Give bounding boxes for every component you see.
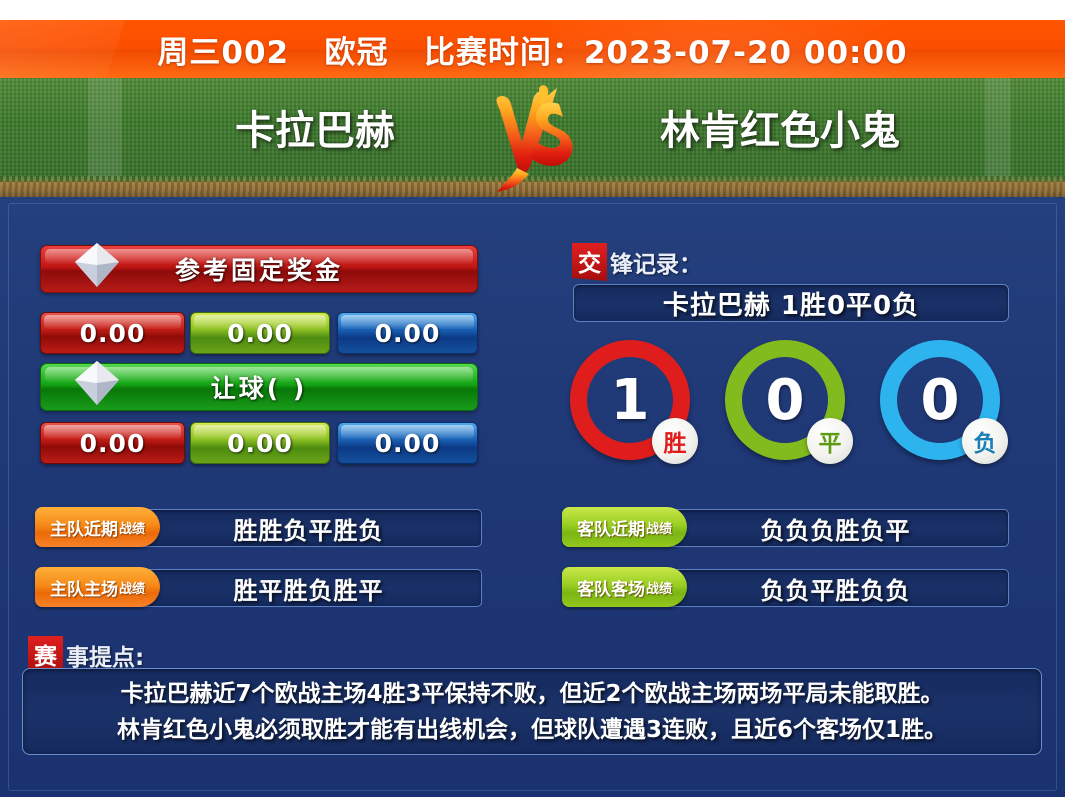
match-header-bar: 周三002 欧冠 比赛时间：2023-07-20 00:00 <box>0 20 1065 78</box>
notes-line: 卡拉巴赫近7个欧战主场4胜3平保持不败，但近2个欧战主场两场平局未能取胜。 <box>120 676 943 712</box>
home-recent-form-tab[interactable]: 主队近期 战绩 <box>35 507 160 547</box>
diamond-gem-icon <box>69 355 125 411</box>
home-recent-form-row: 胜胜负平胜负 主队近期 战绩 <box>35 507 480 547</box>
ring-label-badge: 平 <box>807 418 853 464</box>
away-recent-form-tab[interactable]: 客队近期 战绩 <box>562 507 687 547</box>
page-title: 周三002 欧冠 比赛时间：2023-07-20 00:00 <box>157 27 907 72</box>
home-home-form-tab[interactable]: 主队主场 战绩 <box>35 567 160 607</box>
tab-main-label: 主队主场 <box>50 575 118 600</box>
h2h-badge: 交 <box>572 243 607 281</box>
tab-sub-label: 战绩 <box>119 578 145 597</box>
head-to-head-title: 交 锋记录： <box>572 243 702 281</box>
tab-main-label: 主队近期 <box>50 515 118 540</box>
odd-value: 0.00 <box>80 429 146 458</box>
fixed-bonus-draw-odd[interactable]: 0.00 <box>190 312 330 354</box>
odd-value: 0.00 <box>227 429 293 458</box>
h2h-summary-box: 卡拉巴赫 1胜0平0负 <box>573 284 1009 322</box>
away-away-form-box: 负负平胜负负 <box>662 569 1009 607</box>
pitch-stripe <box>88 78 122 185</box>
ring-label-badge: 胜 <box>652 418 698 464</box>
handicap-home-odd[interactable]: 0.00 <box>40 422 185 464</box>
odd-value: 0.00 <box>375 429 441 458</box>
handicap-draw-odd[interactable]: 0.00 <box>190 422 330 464</box>
away-away-form-tab[interactable]: 客队客场 战绩 <box>562 567 687 607</box>
handicap-away-odd[interactable]: 0.00 <box>337 422 478 464</box>
odd-value: 0.00 <box>227 319 293 348</box>
vs-flame-icon <box>487 84 582 196</box>
tab-sub-label: 战绩 <box>646 578 672 597</box>
diamond-gem-icon <box>69 237 125 293</box>
top-white-strip <box>0 0 1065 20</box>
h2h-draw-ring: 0 平 <box>725 340 845 460</box>
fixed-bonus-header: 参考固定奖金 <box>40 245 478 293</box>
tab-sub-label: 战绩 <box>646 518 672 537</box>
home-home-form-value: 胜平胜负胜平 <box>234 571 384 606</box>
away-recent-form-box: 负负负胜负平 <box>662 509 1009 547</box>
away-away-form-row: 负负平胜负负 客队客场 战绩 <box>562 567 1007 607</box>
fixed-bonus-home-odd[interactable]: 0.00 <box>40 312 185 354</box>
h2h-lose-ring: 0 负 <box>880 340 1000 460</box>
home-recent-form-box: 胜胜负平胜负 <box>135 509 482 547</box>
home-home-form-box: 胜平胜负胜平 <box>135 569 482 607</box>
home-team-name: 卡拉巴赫 <box>165 98 465 156</box>
h2h-summary: 卡拉巴赫 1胜0平0负 <box>663 285 919 322</box>
odd-value: 0.00 <box>375 319 441 348</box>
match-preview-card: 周三002 欧冠 比赛时间：2023-07-20 00:00 卡拉巴赫 林肯红色… <box>0 0 1065 797</box>
tab-sub-label: 战绩 <box>119 518 145 537</box>
h2h-title-rest: 锋记录： <box>610 245 702 279</box>
ring-label-badge: 负 <box>962 418 1008 464</box>
away-recent-form-row: 负负负胜负平 客队近期 战绩 <box>562 507 1007 547</box>
notes-title-rest: 事提点: <box>66 638 144 672</box>
home-recent-form-value: 胜胜负平胜负 <box>234 511 384 546</box>
notes-line: 林肯红色小鬼必须取胜才能有出线机会，但球队遭遇3连败，且近6个客场仅1胜。 <box>117 712 947 748</box>
away-away-form-value: 负负平胜负负 <box>761 571 911 606</box>
fixed-bonus-away-odd[interactable]: 0.00 <box>337 312 478 354</box>
odd-value: 0.00 <box>80 319 146 348</box>
away-recent-form-value: 负负负胜负平 <box>761 511 911 546</box>
notes-box: 卡拉巴赫近7个欧战主场4胜3平保持不败，但近2个欧战主场两场平局未能取胜。 林肯… <box>22 668 1042 755</box>
home-home-form-row: 胜平胜负胜平 主队主场 战绩 <box>35 567 480 607</box>
tab-main-label: 客队近期 <box>577 515 645 540</box>
pitch-stripe <box>985 78 1011 185</box>
handicap-header: 让球( ) <box>40 363 478 411</box>
h2h-win-ring: 1 胜 <box>570 340 690 460</box>
away-team-name: 林肯红色小鬼 <box>600 98 960 156</box>
tab-main-label: 客队客场 <box>577 575 645 600</box>
